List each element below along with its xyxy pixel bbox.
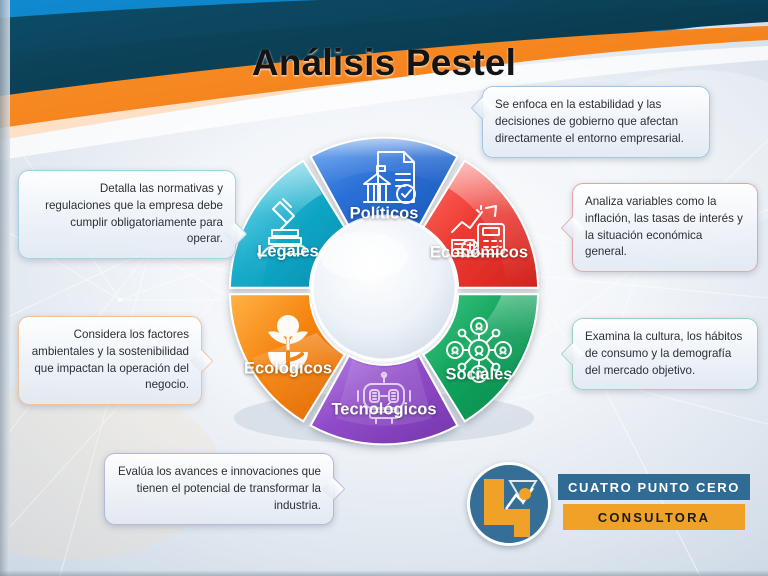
callout-legales-text: Detalla las normativas y regulaciones qu… (31, 181, 223, 248)
logo-name-line2: CONSULTORA (598, 510, 711, 525)
callout-tecnologicos-text: Evalúa los avances e innovaciones que ti… (117, 464, 321, 514)
callout-sociales: Examina la cultura, los hábitos de consu… (572, 318, 758, 390)
infographic-canvas: Análisis Pestel (0, 0, 768, 576)
callout-politicos-text: Se enfoca en la estabilidad y las decisi… (495, 97, 697, 147)
callout-sociales-text: Examina la cultura, los hábitos de consu… (585, 329, 745, 379)
callout-ecologicos: Considera los factores ambientales y la … (18, 316, 202, 405)
callout-legales: Detalla las normativas y regulaciones qu… (18, 170, 236, 259)
bottom-edge-bevel (0, 570, 768, 576)
pestel-donut-chart: Políticos Económicos Sociales Tecnológic… (192, 118, 576, 458)
logo-name-line1: CUATRO PUNTO CERO (568, 480, 740, 495)
callout-economicos-text: Analiza variables como la inflación, las… (585, 194, 745, 261)
company-logo: CUATRO PUNTO CERO CONSULTORA (467, 460, 750, 548)
logo-name-band: CUATRO PUNTO CERO (558, 474, 750, 500)
logo-mark-circle (467, 462, 551, 546)
page-title: Análisis Pestel (0, 42, 768, 84)
left-edge-bevel (0, 0, 10, 576)
logo-mark-icon (470, 465, 554, 549)
callout-ecologicos-text: Considera los factores ambientales y la … (31, 327, 189, 394)
callout-politicos: Se enfoca en la estabilidad y las decisi… (482, 86, 710, 158)
donut-svg (192, 118, 576, 458)
callout-economicos: Analiza variables como la inflación, las… (572, 183, 758, 272)
logo-subtitle-band: CONSULTORA (563, 504, 745, 530)
callout-tecnologicos: Evalúa los avances e innovaciones que ti… (104, 453, 334, 525)
